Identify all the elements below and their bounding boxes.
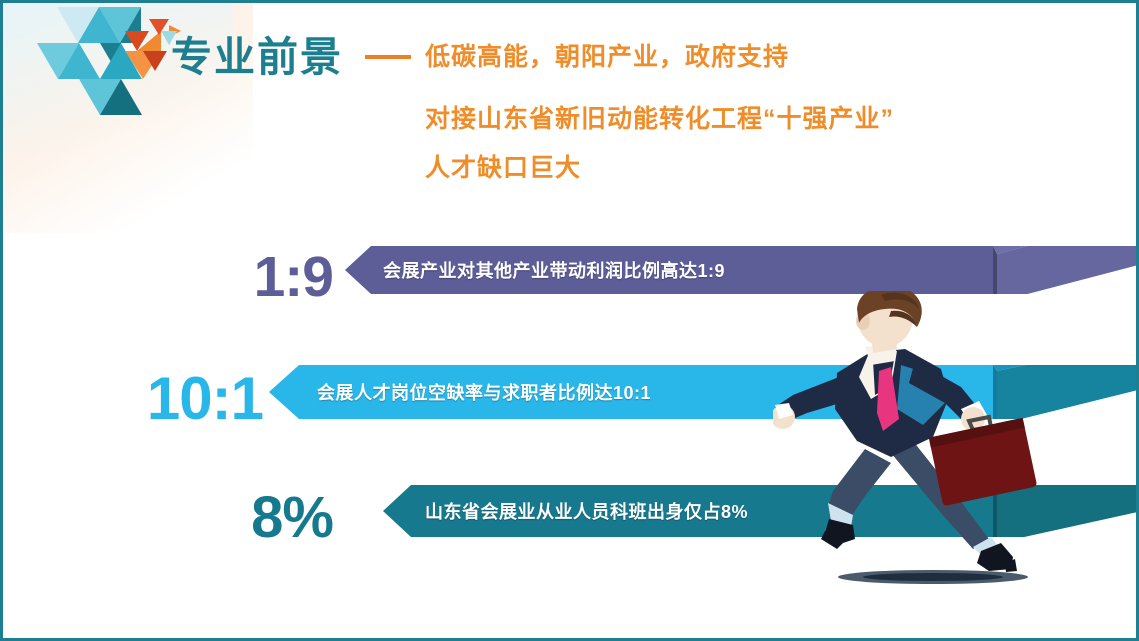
triangular-mosaic-logo xyxy=(21,7,181,142)
presentation-slide: 专业前景 低碳高能，朝阳产业，政府支持 对接山东省新旧动能转化工程“十强产业” … xyxy=(0,0,1139,641)
page-title: 专业前景 xyxy=(171,37,343,78)
stat-number: 10:1 xyxy=(63,369,263,429)
subtitle-line-1: 低碳高能，朝阳产业，政府支持 xyxy=(425,45,789,70)
title-row: 专业前景 低碳高能，朝阳产业，政府支持 xyxy=(171,29,1111,85)
stat-bar-label: 会展人才岗位空缺率与求职者比例达10:1 xyxy=(317,379,651,405)
subtitle-line-3: 人才缺口巨大 xyxy=(425,156,1111,181)
stat-bar: 会展产业对其他产业带动利润比例高达1:9 xyxy=(345,246,1139,294)
stat-bar-label: 会展产业对其他产业带动利润比例高达1:9 xyxy=(383,257,725,283)
stat-number: 1:9 xyxy=(133,249,333,306)
slide-header: 专业前景 低碳高能，朝阳产业，政府支持 对接山东省新旧动能转化工程“十强产业” … xyxy=(171,29,1111,181)
stat-bar-label: 山东省会展业从业人员科班出身仅占8% xyxy=(425,498,748,524)
running-businessman-illustration xyxy=(773,291,1073,591)
subtitle-line-2: 对接山东省新旧动能转化工程“十强产业” xyxy=(425,107,1111,132)
title-dash-icon xyxy=(365,55,411,59)
stat-bar: 会展人才岗位空缺率与求职者比例达10:1 xyxy=(269,365,1139,419)
stat-number: 8% xyxy=(133,489,333,547)
stat-bar: 山东省会展业从业人员科班出身仅占8% xyxy=(383,485,1139,537)
